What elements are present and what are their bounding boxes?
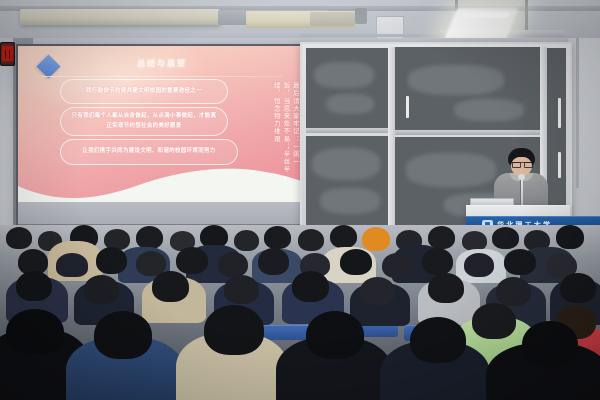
- audience-head: [556, 225, 584, 249]
- pendant-lamp-tube: [462, 12, 510, 18]
- audience-head: [234, 230, 259, 251]
- audience-head: [462, 231, 487, 251]
- slide-title: 总结与展望: [18, 58, 306, 69]
- audience-head-front: [204, 305, 264, 355]
- audience-head: [298, 229, 324, 251]
- audience-head-front: [522, 321, 578, 367]
- projection-screen: 总结与展望 践行勤俭节约是共建文明校园的重要途径之一 只有我们每个人都从自身做起…: [16, 44, 308, 230]
- audience-head-front: [94, 311, 152, 359]
- audience-head: [504, 249, 536, 275]
- audience-head-orange: [362, 227, 390, 251]
- audience-head: [340, 249, 372, 275]
- audience-head: [224, 275, 259, 304]
- audience-head: [292, 271, 329, 302]
- audience-head: [428, 273, 464, 303]
- audience-head: [360, 277, 395, 305]
- audience-head: [264, 226, 291, 249]
- audience-head: [136, 226, 163, 249]
- glasses-lens-left: [512, 162, 521, 168]
- audience-head: [218, 252, 248, 277]
- audience-head: [560, 273, 596, 303]
- blackboard-panel-2: [394, 47, 542, 133]
- audience-head: [428, 226, 455, 249]
- audience-head: [382, 253, 412, 278]
- blackboard-handle-2[interactable]: [558, 152, 561, 178]
- audience-head-front: [410, 317, 466, 363]
- ceiling: [0, 0, 600, 40]
- audience-head: [472, 303, 516, 339]
- audience-head: [258, 248, 289, 275]
- audience-head-bun: [496, 277, 531, 306]
- right-wall-pipe: [576, 38, 579, 188]
- pendant-lamp-stem-right: [525, 0, 528, 30]
- microphone-stand: [521, 178, 523, 208]
- ceiling-light-fixture-4: [310, 12, 355, 26]
- chalk-ledge-1: [306, 128, 390, 133]
- audience-head: [96, 247, 127, 274]
- audience-head-front: [306, 311, 364, 359]
- presentation-slide: 总结与展望 践行勤俭节约是共建文明校园的重要途径之一 只有我们每个人都从自身做起…: [18, 46, 306, 204]
- screen-lower-band: [18, 202, 306, 224]
- led-clock-display: [0, 42, 15, 66]
- slide-wave-decoration: [18, 160, 306, 204]
- audience-head: [152, 271, 189, 302]
- slide-title-rule: [42, 76, 282, 77]
- audience-head: [176, 247, 208, 274]
- audience-head: [330, 225, 357, 248]
- audience-head-front: [6, 309, 64, 355]
- led-segment-gap-1: [5, 50, 6, 59]
- audience-head: [422, 248, 453, 275]
- audience-head-cap: [56, 253, 88, 277]
- led-clock-digits: [2, 46, 13, 61]
- slide-bullet-1: 践行勤俭节约是共建文明校园的重要途径之一: [60, 79, 228, 104]
- blackboard-handle-3[interactable]: [406, 96, 409, 118]
- glasses-lens-right: [524, 162, 533, 168]
- ceiling-conduit: [300, 34, 450, 37]
- blackboard-panel-1: [306, 48, 390, 132]
- audience-head: [84, 275, 119, 304]
- audience-head: [492, 227, 519, 249]
- ceiling-light-bracket: [355, 8, 367, 24]
- ceiling-light-fixture-1: [20, 9, 220, 25]
- led-segment-gap-2: [9, 50, 10, 59]
- audience-head: [6, 227, 32, 249]
- audience: [0, 225, 600, 400]
- microphone-icon: [518, 174, 525, 180]
- blackboard-panel-3: [306, 136, 390, 226]
- lecture-hall-photo: 总结与展望 践行勤俭节约是共建文明校园的重要途径之一 只有我们每个人都从自身做起…: [0, 0, 600, 400]
- projection-screen-surface: 总结与展望 践行勤俭节约是共建文明校园的重要途径之一 只有我们每个人都从自身做起…: [18, 46, 306, 224]
- blackboard-handle-1[interactable]: [558, 98, 561, 128]
- audience-head: [464, 253, 494, 277]
- slide-bullet-2: 只有我们每个人都从自身做起，从点滴小事做起，才能真正实现节约型社会的美好愿景: [60, 107, 228, 136]
- blackboard-rail-left: [388, 47, 395, 227]
- audience-head: [16, 271, 52, 301]
- right-wall: [568, 38, 600, 230]
- chalk-ledge-2: [394, 130, 542, 135]
